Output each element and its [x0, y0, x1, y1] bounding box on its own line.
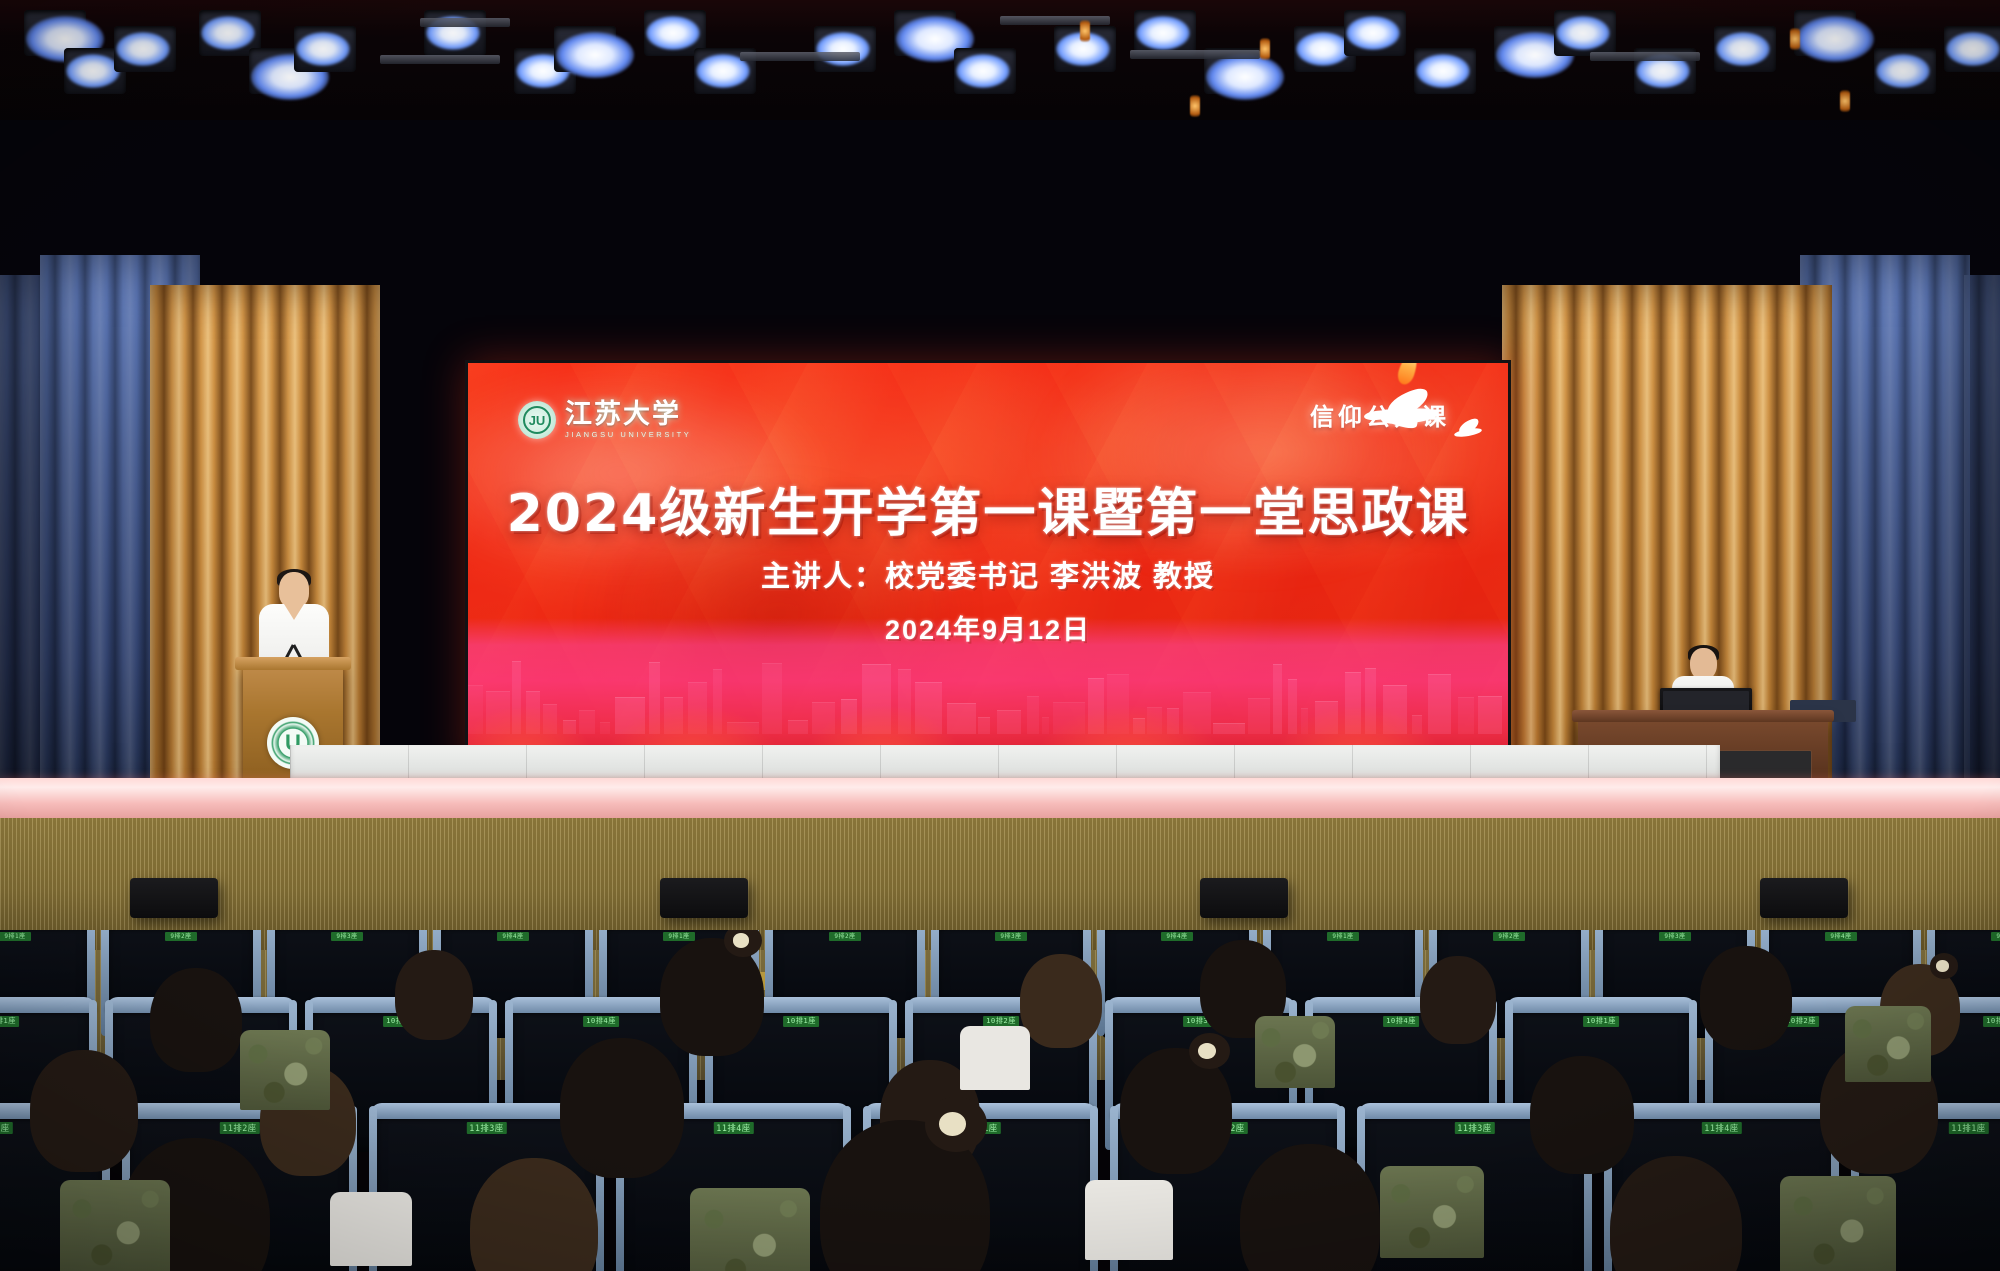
seat-number-tag: 11排1座 [0, 1122, 13, 1134]
seat-number-tag: 9排3座 [995, 932, 1027, 941]
amber-light-cue [1190, 95, 1200, 117]
stage-light-beam [296, 32, 350, 66]
audience-member-camo-uniform [690, 1188, 810, 1271]
truss-bar [1590, 52, 1700, 61]
truss-bar [420, 18, 510, 27]
university-logo: JU 江苏大学 JIANGSU UNIVERSITY [518, 401, 691, 439]
seat-number-tag: 9排1座 [1991, 932, 2000, 941]
skyline-building [1248, 698, 1270, 734]
audience-member-head [1020, 954, 1102, 1048]
audience-member-camo-uniform [60, 1180, 170, 1271]
audience-member-shirt [1085, 1180, 1173, 1260]
truss-bar [740, 52, 860, 61]
stage-light-beam [66, 54, 120, 88]
stage-light-beam [556, 32, 634, 78]
wall-speaker-2 [660, 878, 748, 918]
hair-scrunchie [1198, 1043, 1216, 1059]
stage-light-beam [116, 32, 170, 66]
stage-white-skirt [290, 745, 1720, 781]
audience-member-head [1530, 1056, 1634, 1174]
dove-small-icon [1446, 421, 1486, 443]
seat-number-tag: 9排1座 [0, 932, 31, 941]
amber-light-cue [1790, 28, 1800, 50]
stage-deck-edge [0, 778, 2000, 820]
stage-light-beam [1206, 54, 1284, 100]
seat-number-tag: 11排2座 [219, 1122, 259, 1134]
university-name-en: JIANGSU UNIVERSITY [565, 431, 691, 439]
amber-light-cue [1080, 20, 1090, 42]
audience-member-camo-uniform [1380, 1166, 1484, 1258]
ceiling [0, 0, 2000, 130]
audience-member-camo-uniform [1255, 1016, 1335, 1088]
truss-bar [1130, 50, 1260, 59]
stage-light-beam [1296, 32, 1350, 66]
event-speaker-line: 主讲人：校党委书记 李洪波 教授 [468, 553, 1508, 595]
seat-number-tag: 10排1座 [1583, 1016, 1619, 1027]
audience-member-head [1420, 956, 1496, 1044]
seat-number-tag: 10排1座 [0, 1016, 19, 1027]
seat-number-tag: 9排3座 [331, 932, 363, 941]
skyline-building [978, 717, 990, 734]
wall-speaker-3 [1200, 878, 1288, 918]
led-backdrop-screen: JU 江苏大学 JIANGSU UNIVERSITY 信仰公开课 2024级新生… [465, 360, 1511, 771]
amber-light-cue [1260, 38, 1270, 60]
seat-number-tag: 9排4座 [1161, 932, 1193, 941]
stage-light-beam [1136, 16, 1190, 50]
seat-number-tag: 10排3座 [1983, 1016, 2000, 1027]
seat-rim [1506, 997, 1696, 1013]
speaker-head [279, 572, 309, 608]
amber-light-cue [1840, 90, 1850, 112]
stage-light-beam [1716, 32, 1770, 66]
audience-member-head [1700, 946, 1792, 1050]
led-content: JU 江苏大学 JIANGSU UNIVERSITY 信仰公开课 2024级新生… [468, 363, 1508, 768]
skyline-building [1458, 697, 1474, 734]
seat-number-tag: 9排1座 [663, 932, 695, 941]
audience-member-head [395, 950, 473, 1040]
blue-curtain-far-right [1964, 275, 2000, 815]
stage-light-beam [646, 16, 700, 50]
emblem-letter: JU [529, 413, 546, 428]
event-title: 2024级新生开学第一课暨第一堂思政课 [468, 471, 1508, 546]
seat-number-tag: 9排3座 [1659, 932, 1691, 941]
stage-light-beam [1876, 54, 1930, 88]
stage-light-beam [956, 54, 1010, 88]
audience-member-shirt [330, 1192, 412, 1266]
hair-scrunchie [733, 933, 750, 948]
skyline-building [1478, 696, 1502, 734]
desk-ledge [1572, 710, 1834, 722]
university-emblem-icon: JU [518, 401, 556, 439]
auditorium-scene: JU 江苏大学 JIANGSU UNIVERSITY 信仰公开课 2024级新生… [0, 0, 2000, 1271]
audience-seating: 9排1座9排2座9排3座9排4座9排1座9排2座9排3座9排4座9排1座9排2座… [0, 930, 2000, 1271]
seat-number-tag: 11排1座 [1948, 1122, 1988, 1134]
seat-number-tag: 11排4座 [713, 1122, 753, 1134]
stage-light-beam [1946, 32, 2000, 66]
seat-rim [1605, 1103, 1838, 1119]
seat-number-tag: 11排4座 [1701, 1122, 1741, 1134]
seat-number-tag: 9排2座 [165, 932, 197, 941]
audience-member-head [30, 1050, 138, 1172]
hair-scrunchie [1936, 960, 1949, 971]
seat-number-tag: 9排2座 [1493, 932, 1525, 941]
seat-number-tag: 9排4座 [1825, 932, 1857, 941]
audience-member-head [150, 968, 242, 1072]
truss-bar [380, 55, 500, 64]
stage-light-beam [201, 16, 255, 50]
university-name-cn: 江苏大学 [565, 401, 691, 428]
podium-top [235, 657, 351, 670]
audience-member-camo-uniform [1845, 1006, 1931, 1082]
stage-light-beam [1416, 54, 1470, 88]
audience-member-camo-uniform [1780, 1176, 1896, 1271]
stage-light-beam [1556, 16, 1610, 50]
audience-member-shirt [960, 1026, 1030, 1090]
seat-number-tag: 9排2座 [829, 932, 861, 941]
dove-icon [1362, 391, 1448, 435]
seat-number-tag: 11排3座 [466, 1122, 506, 1134]
skyline-building [997, 710, 1021, 734]
seat-number-tag: 10排4座 [583, 1016, 619, 1027]
wall-speaker-4 [1760, 878, 1848, 918]
wall-speaker-1 [130, 878, 218, 918]
seat-number-tag: 10排4座 [1383, 1016, 1419, 1027]
lighting-truss [0, 0, 2000, 130]
audience-member-camo-uniform [240, 1030, 330, 1110]
stage-light-beam [1346, 16, 1400, 50]
event-date: 2024年9月12日 [468, 608, 1508, 647]
seat-rim [0, 997, 96, 1013]
audience-member-head [560, 1038, 684, 1178]
seat-number-tag: 9排1座 [1327, 932, 1359, 941]
truss-bar [1000, 16, 1110, 25]
stage-light-beam [1796, 16, 1874, 62]
seat-number-tag: 10排1座 [783, 1016, 819, 1027]
seat-number-tag: 11排3座 [1454, 1122, 1494, 1134]
seat-number-tag: 9排4座 [497, 932, 529, 941]
